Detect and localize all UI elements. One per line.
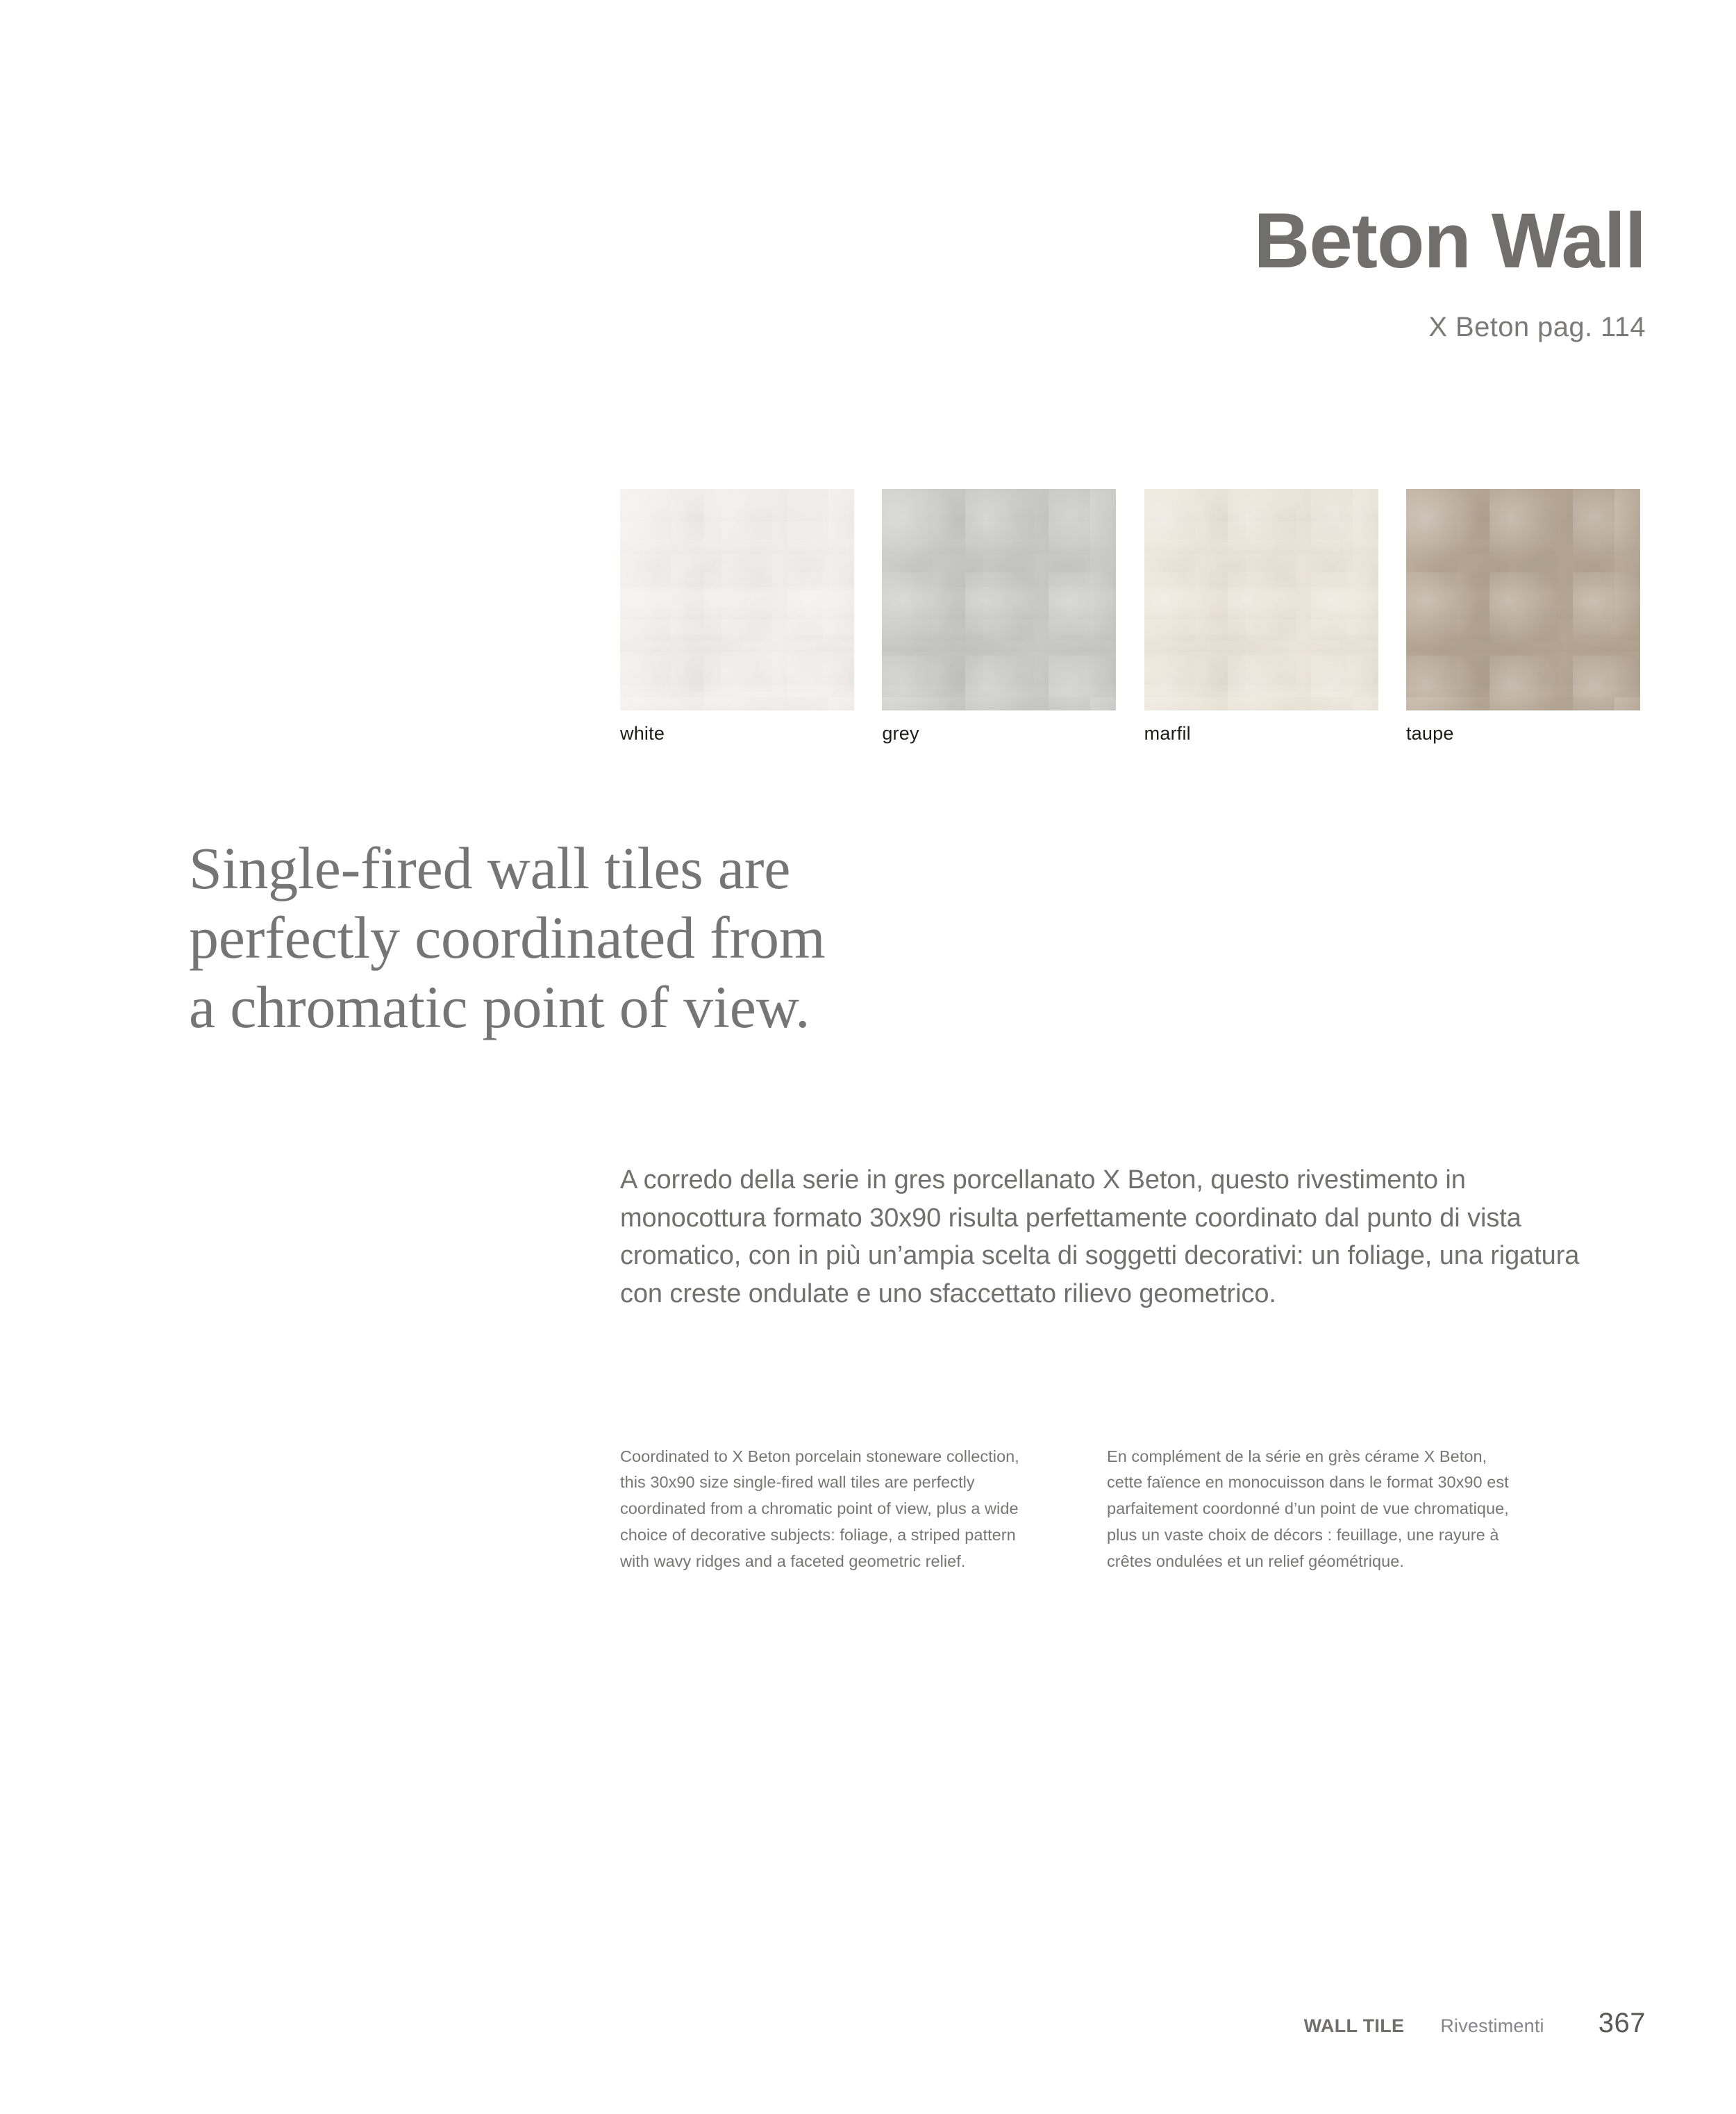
- swatch-texture-overlay-2: [1144, 489, 1378, 710]
- swatch-chip-taupe: [1406, 489, 1640, 710]
- page-title: Beton Wall: [0, 201, 1646, 281]
- swatch-label: taupe: [1406, 710, 1640, 744]
- swatch-texture-overlay-2: [882, 489, 1116, 710]
- footer-category-sublabel: Rivestimenti: [1440, 2015, 1544, 2037]
- swatch-chip-grey: [882, 489, 1116, 710]
- swatch-taupe[interactable]: taupe: [1406, 489, 1640, 744]
- swatch-chip-marfil: [1144, 489, 1378, 710]
- headline: Single-fired wall tiles are perfectly co…: [189, 833, 1300, 1042]
- catalog-page: Beton Wall X Beton pag. 114 white grey m…: [0, 0, 1736, 2114]
- description-column-fr: En complément de la série en grès cérame…: [1107, 1444, 1524, 1575]
- swatch-label: white: [620, 710, 854, 744]
- swatch-marfil[interactable]: marfil: [1144, 489, 1378, 744]
- page-subtitle-reference: X Beton pag. 114: [0, 281, 1646, 344]
- swatch-texture-overlay-2: [620, 489, 854, 710]
- headline-line-2: perfectly coordinated from: [189, 903, 1300, 972]
- swatch-label: grey: [882, 710, 1116, 744]
- description-column-en: Coordinated to X Beton porcelain stonewa…: [620, 1444, 1037, 1575]
- page-footer: WALL TILE Rivestimenti 367: [0, 2008, 1646, 2039]
- color-swatch-row: white grey marfil taupe: [620, 489, 1640, 744]
- footer-category-label: WALL TILE: [1304, 2015, 1405, 2037]
- page-header: Beton Wall X Beton pag. 114: [0, 201, 1646, 344]
- swatch-label: marfil: [1144, 710, 1378, 744]
- lead-paragraph-it: A corredo della serie in gres porcellana…: [620, 1161, 1585, 1313]
- swatch-texture-overlay-2: [1406, 489, 1640, 710]
- swatch-grey[interactable]: grey: [882, 489, 1116, 744]
- headline-line-1: Single-fired wall tiles are: [189, 833, 1300, 903]
- page-number: 367: [1599, 2008, 1646, 2039]
- swatch-chip-white: [620, 489, 854, 710]
- headline-line-3: a chromatic point of view.: [189, 972, 1300, 1042]
- translation-columns: Coordinated to X Beton porcelain stonewa…: [620, 1427, 1648, 1591]
- swatch-white[interactable]: white: [620, 489, 854, 744]
